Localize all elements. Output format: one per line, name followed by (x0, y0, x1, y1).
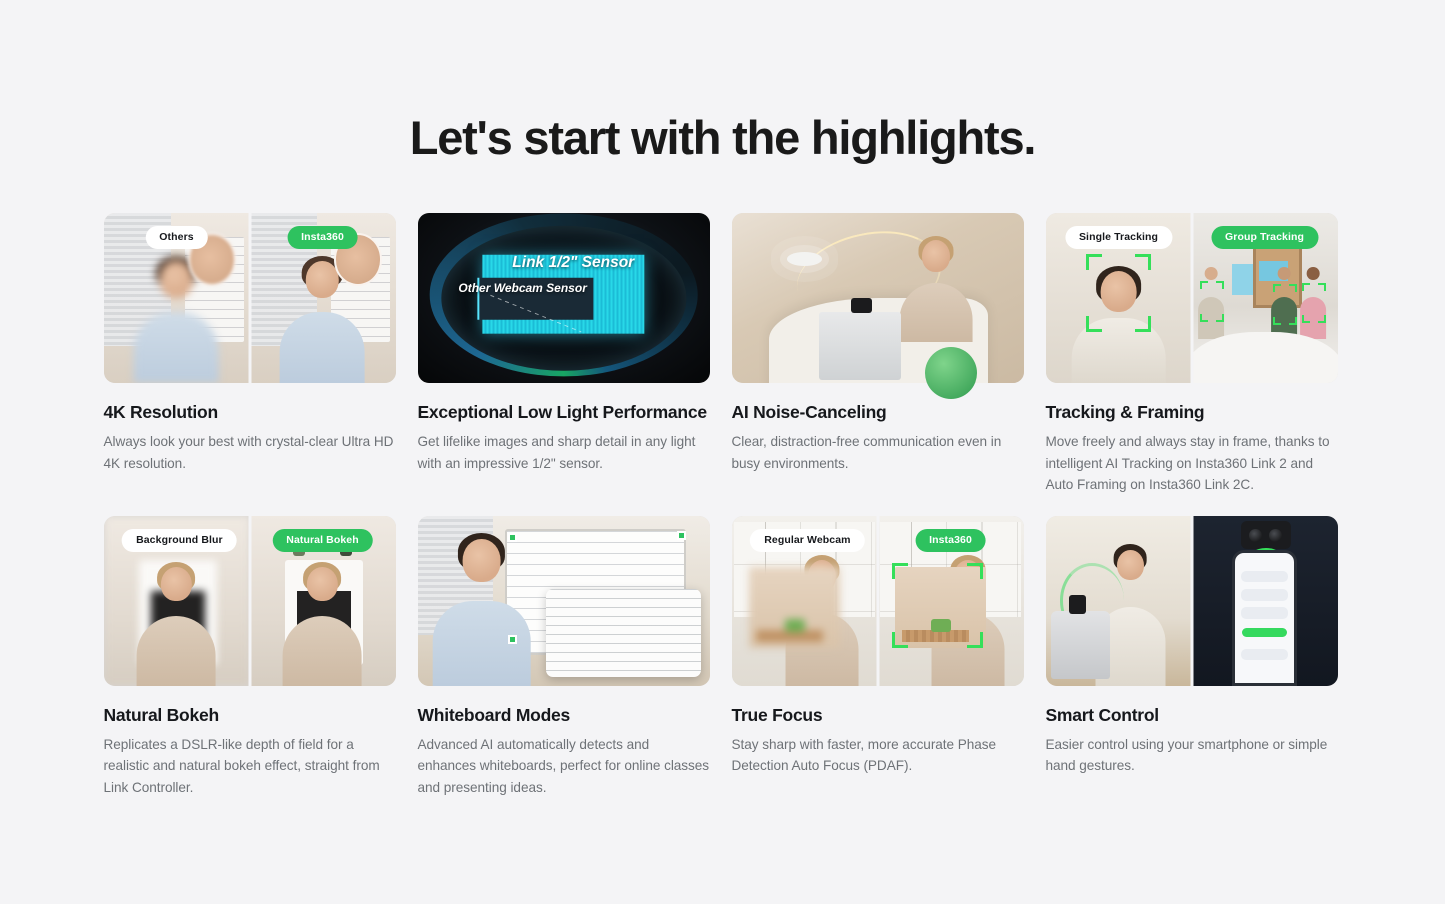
tracking-bracket (1273, 284, 1296, 325)
badge-right: Natural Bokeh (272, 529, 372, 552)
tracking-bracket (1200, 281, 1223, 322)
feature-media-ai-noise-canceling (732, 213, 1024, 383)
app-slider[interactable] (1242, 628, 1286, 637)
feature-media-true-focus: Regular Webcam Insta360 (732, 516, 1024, 686)
feature-description: Get lifelike images and sharp detail in … (418, 431, 710, 474)
person-figure (285, 567, 361, 686)
webcam-device (1241, 521, 1291, 550)
feature-media-tracking-framing: Single Tracking Group Tracking (1046, 213, 1338, 383)
classroom-scene (418, 516, 710, 686)
split-divider (876, 516, 879, 686)
feature-description: Clear, distraction-free communication ev… (732, 431, 1024, 474)
enhanced-whiteboard-inset (546, 589, 701, 677)
badge-right: Insta360 (287, 226, 358, 249)
badge-left: Regular Webcam (750, 529, 864, 552)
person-figure (901, 240, 971, 342)
tracking-bracket (1302, 283, 1325, 324)
feature-title: Natural Bokeh (104, 704, 396, 727)
feature-media-whiteboard-modes (418, 516, 710, 686)
feature-grid: Others Insta360 4K Resolution Always loo… (104, 213, 1342, 798)
feature-description: Stay sharp with faster, more accurate Ph… (732, 734, 1024, 777)
laptop (1051, 611, 1109, 679)
sensor-label-other: Other Webcam Sensor (458, 281, 586, 295)
feature-description: Always look your best with crystal-clear… (104, 431, 396, 474)
focus-bracket (892, 563, 983, 648)
smartphone-app (1232, 550, 1296, 686)
split-divider (1190, 213, 1193, 383)
detection-marker (677, 531, 686, 540)
feature-title: True Focus (732, 704, 1024, 727)
badge-left: Single Tracking (1065, 226, 1172, 249)
badge-left: Others (145, 226, 207, 249)
feature-card-tracking-framing[interactable]: Single Tracking Group Tracking Tracking … (1046, 213, 1338, 496)
highlights-page: Let's start with the highlights. (0, 0, 1445, 904)
split-divider (248, 516, 251, 686)
feature-media-natural-bokeh: Background Blur Natural Bokeh (104, 516, 396, 686)
sensor-label-link: Link 1/2" Sensor (512, 254, 634, 272)
tracking-bracket (1086, 254, 1150, 332)
badge-right: Group Tracking (1211, 226, 1318, 249)
feature-description: Replicates a DSLR-like depth of field fo… (104, 734, 396, 798)
page-title: Let's start with the highlights. (0, 0, 1445, 161)
detection-marker (508, 533, 517, 542)
feature-description: Easier control using your smartphone or … (1046, 734, 1338, 777)
sensor-scene (418, 213, 710, 383)
feature-title: Smart Control (1046, 704, 1338, 727)
feature-card-true-focus[interactable]: Regular Webcam Insta360 True Focus Stay … (732, 516, 1024, 799)
feature-card-4k-resolution[interactable]: Others Insta360 4K Resolution Always loo… (104, 213, 396, 496)
feature-media-low-light: Link 1/2" Sensor Other Webcam Sensor (418, 213, 710, 383)
feature-media-smart-control (1046, 516, 1338, 686)
detection-marker (508, 635, 517, 644)
gesture-half (1046, 516, 1192, 686)
split-divider (1190, 516, 1193, 686)
person-figure (139, 567, 215, 686)
split-divider (248, 213, 251, 383)
person-figure (435, 539, 528, 685)
office-scene (732, 213, 1024, 383)
feature-title: Tracking & Framing (1046, 401, 1338, 424)
feature-description: Move freely and always stay in frame, th… (1046, 431, 1338, 495)
decorative-ball (925, 347, 977, 399)
noise-source-device (787, 252, 822, 266)
feature-card-ai-noise-canceling[interactable]: AI Noise-Canceling Clear, distraction-fr… (732, 213, 1024, 496)
feature-title: Exceptional Low Light Performance (418, 401, 710, 424)
webcam-icon (851, 298, 871, 313)
app-control-half (1192, 516, 1338, 686)
badge-right: Insta360 (915, 529, 986, 552)
feature-card-whiteboard-modes[interactable]: Whiteboard Modes Advanced AI automatical… (418, 516, 710, 799)
feature-card-smart-control[interactable]: Smart Control Easier control using your … (1046, 516, 1338, 799)
feature-description: Advanced AI automatically detects and en… (418, 734, 710, 798)
feature-title: AI Noise-Canceling (732, 401, 1024, 424)
feature-title: 4K Resolution (104, 401, 396, 424)
webcam-icon (1069, 595, 1087, 614)
feature-card-low-light[interactable]: Link 1/2" Sensor Other Webcam Sensor Exc… (418, 213, 710, 496)
feature-card-natural-bokeh[interactable]: Background Blur Natural Bokeh Natural Bo… (104, 516, 396, 799)
feature-title: Whiteboard Modes (418, 704, 710, 727)
badge-left: Background Blur (122, 529, 237, 552)
feature-media-4k-resolution: Others Insta360 (104, 213, 396, 383)
